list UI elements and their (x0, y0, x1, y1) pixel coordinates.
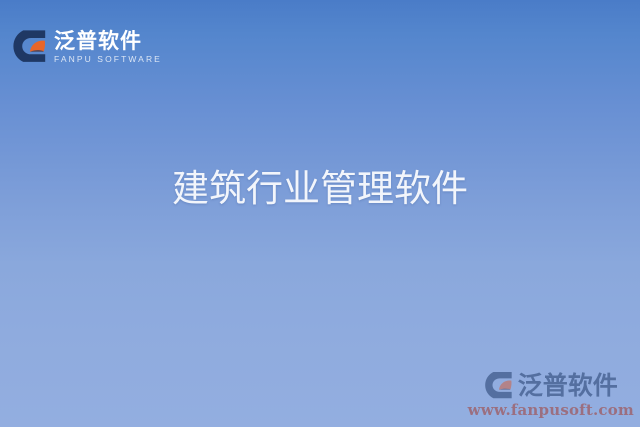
brand-lockup: 泛普软件 FANPU SOFTWARE (12, 28, 162, 64)
brand-name-en: FANPU SOFTWARE (54, 55, 162, 64)
fanpu-logo-icon (12, 28, 48, 64)
watermark: 泛普软件 www.fanpusoft.com (468, 370, 634, 419)
fanpu-logo-icon (484, 370, 514, 400)
brand-text-block: 泛普软件 FANPU SOFTWARE (54, 29, 162, 64)
watermark-url: www.fanpusoft.com (468, 401, 634, 419)
watermark-logo-row: 泛普软件 (484, 370, 618, 400)
page-title: 建筑行业管理软件 (0, 158, 640, 212)
watermark-name-cn: 泛普软件 (518, 373, 618, 398)
brand-name-cn: 泛普软件 (54, 30, 162, 52)
slide-canvas: 泛普软件 FANPU SOFTWARE 建筑行业管理软件 泛普软件 www.fa… (0, 0, 640, 427)
